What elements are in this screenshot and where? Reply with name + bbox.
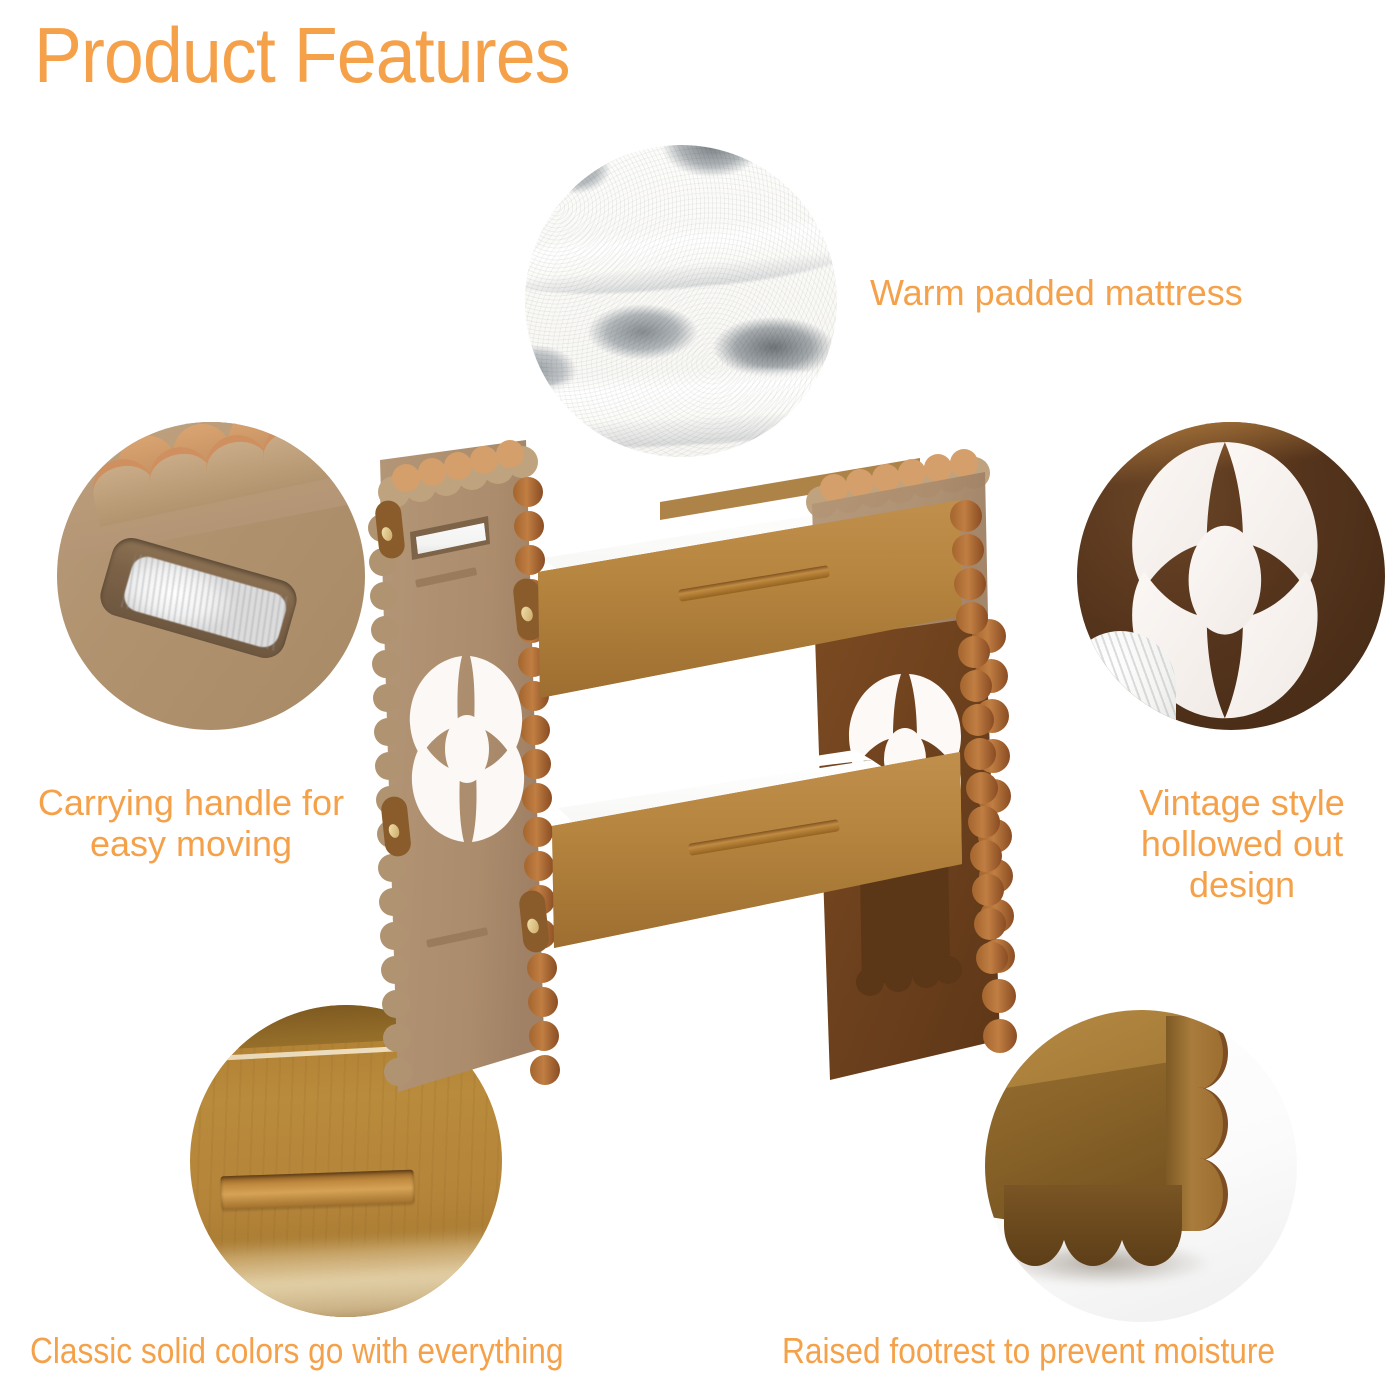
- caption-line-2: hollowed out design: [1141, 823, 1343, 905]
- footrest-legs: [1004, 1185, 1179, 1266]
- fleece-fiber-noise: [525, 145, 837, 457]
- detail-circle-carrying-handle: [57, 422, 365, 730]
- detail-circle-vintage-hollow: [1077, 422, 1385, 730]
- caption-vintage-design: Vintage style hollowed out design: [1092, 782, 1392, 905]
- caption-carrying-handle: Carrying handle for easy moving: [18, 782, 364, 864]
- left-panel-shape: [368, 440, 560, 1092]
- detail-circle-mattress: [525, 145, 837, 457]
- caption-line-1: Carrying handle for: [38, 782, 344, 823]
- caption-line-2: easy moving: [90, 823, 292, 864]
- product-image-pet-bunk-bed: [360, 440, 1040, 1130]
- caption-mattress: Warm padded mattress: [870, 272, 1243, 313]
- infographic-canvas: Product Features Warm padded mattress Ca…: [0, 0, 1400, 1400]
- page-title: Product Features: [34, 16, 570, 94]
- caption-solid-colors: Classic solid colors go with everything: [30, 1330, 564, 1371]
- caption-raised-footrest: Raised footrest to prevent moisture: [782, 1330, 1275, 1371]
- caption-line-1: Vintage style: [1139, 782, 1344, 823]
